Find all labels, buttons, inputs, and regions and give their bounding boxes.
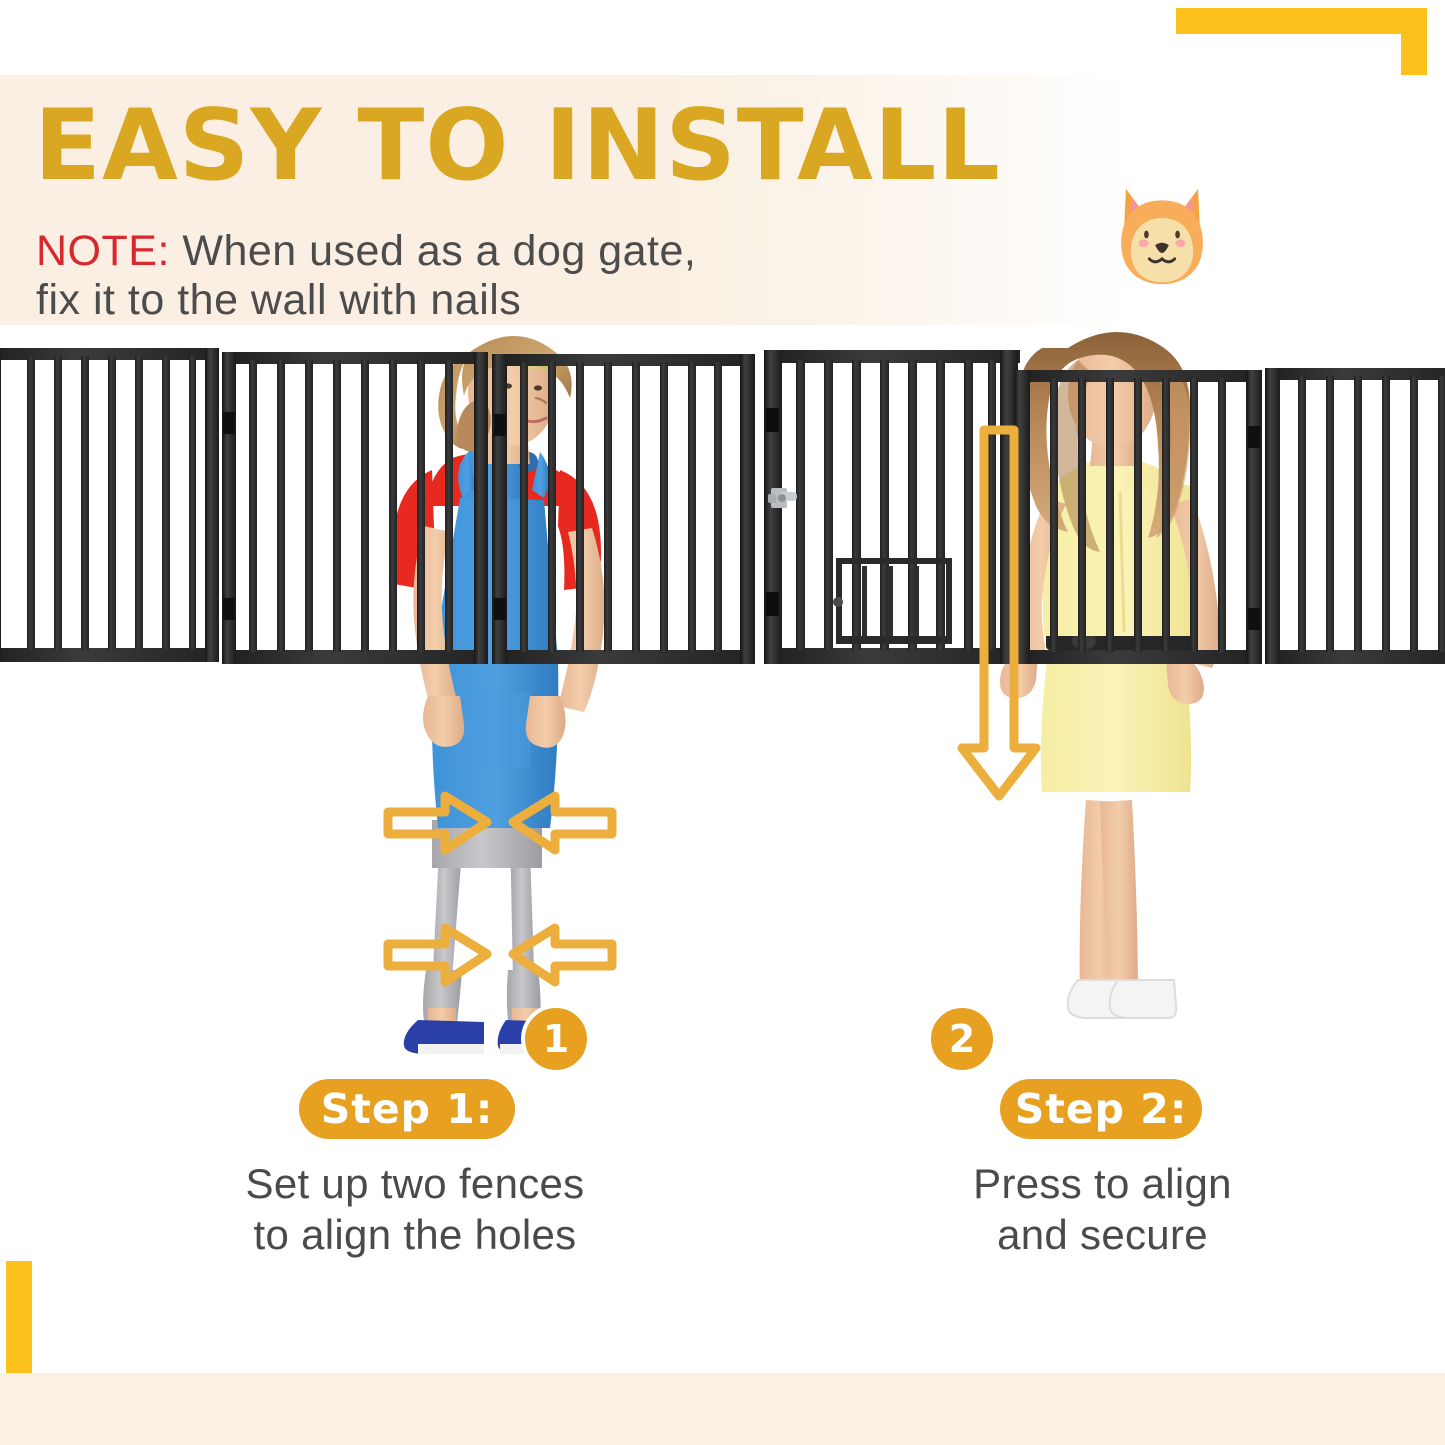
pet-door — [833, 558, 952, 644]
hinge-icon — [1248, 426, 1260, 448]
header-banner: EASY TO INSTALL NOTE: When used as a dog… — [0, 75, 1445, 325]
step-2-caption: Press to align and secure — [885, 1158, 1320, 1260]
note-text: NOTE: When used as a dog gate, fix it to… — [36, 227, 696, 325]
hinge-icon — [1248, 608, 1260, 630]
scene-illustration — [0, 330, 1445, 1090]
hinge-icon — [223, 412, 235, 434]
dog-face-icon — [1108, 179, 1216, 291]
step-2-badge: 2 — [927, 1004, 997, 1074]
infographic-stage: EASY TO INSTALL NOTE: When used as a dog… — [0, 0, 1445, 1445]
step-2-pill: Step 2: — [1000, 1079, 1202, 1139]
note-keyword: NOTE: — [36, 227, 170, 275]
hinge-icon — [494, 598, 506, 620]
gate-latch-icon — [768, 488, 797, 508]
hinge-icon — [766, 592, 779, 616]
product-scene — [0, 330, 1445, 1090]
pet-door-latch-icon — [833, 597, 843, 607]
page-title: EASY TO INSTALL — [34, 97, 1001, 195]
step-1-badge: 1 — [521, 1004, 591, 1074]
fence-panel-6 — [1265, 368, 1445, 664]
header-content: EASY TO INSTALL NOTE: When used as a dog… — [34, 75, 1445, 325]
hinge-icon — [223, 598, 235, 620]
cream-footer-band — [0, 1373, 1445, 1445]
fence-panel-2 — [222, 352, 488, 664]
step-1-caption: Set up two fences to align the holes — [130, 1158, 700, 1260]
pet-fence — [0, 348, 1445, 664]
fence-panel-5 — [1014, 370, 1262, 664]
fence-panel-1 — [0, 348, 219, 662]
step-1-pill: Step 1: — [299, 1079, 515, 1139]
hinge-icon — [494, 414, 506, 436]
hinge-icon — [766, 408, 779, 432]
